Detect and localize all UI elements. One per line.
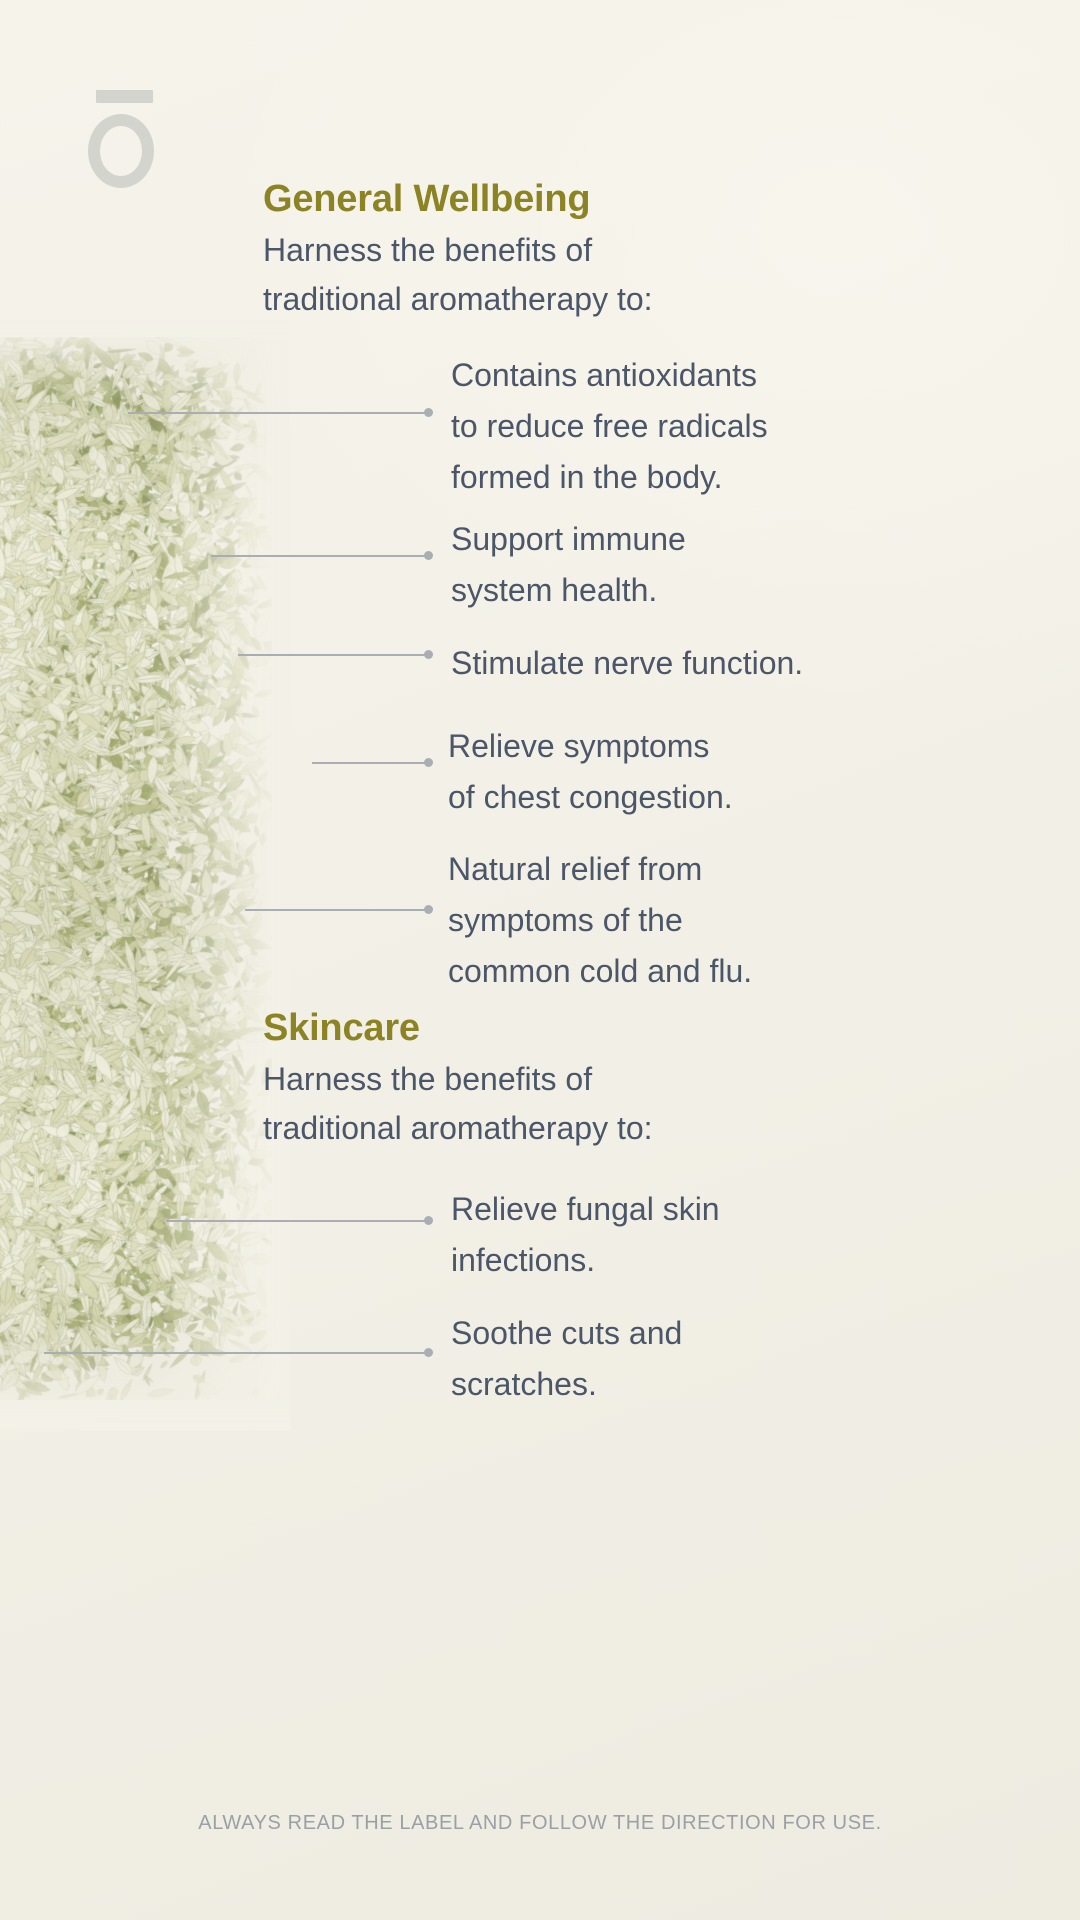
benefit-text-1: Contains antioxidants to reduce free rad… [451, 350, 768, 503]
leader-dot [424, 1348, 433, 1357]
benefit-text-5: Natural relief from symptoms of the comm… [448, 844, 752, 997]
section-title-skincare: Skincare [263, 1007, 420, 1050]
leader-rule [166, 1220, 432, 1222]
leader-rule [312, 762, 432, 764]
leader-dot [424, 1216, 433, 1225]
benefit-text-3: Stimulate nerve function. [451, 638, 803, 689]
leader-line-benefit-4 [312, 761, 432, 764]
section-title-general-wellbeing: General Wellbeing [263, 178, 590, 221]
leader-dot [424, 905, 433, 914]
infographic-page: General Wellbeing Harness the benefits o… [0, 0, 1080, 1920]
leader-line-benefit-5 [245, 908, 432, 911]
section-subtitle-general-wellbeing: Harness the benefits of traditional arom… [263, 226, 653, 324]
leader-rule [128, 412, 432, 414]
leader-line-benefit-7 [44, 1351, 432, 1354]
leader-rule [44, 1352, 432, 1354]
leader-line-benefit-2 [211, 554, 432, 557]
dried-herb-photo [0, 337, 272, 1400]
leader-line-benefit-6 [166, 1219, 432, 1222]
dried-herb-canvas [0, 337, 272, 1400]
brand-logo-icon [88, 78, 208, 188]
logo-macron-bar [96, 90, 153, 103]
logo-o-ring [88, 114, 154, 188]
benefit-text-7: Soothe cuts and scratches. [451, 1308, 682, 1410]
leader-dot [424, 551, 433, 560]
leader-rule [238, 654, 432, 656]
leader-dot [424, 650, 433, 659]
benefit-text-6: Relieve fungal skin infections. [451, 1184, 720, 1286]
label-disclaimer: ALWAYS READ THE LABEL AND FOLLOW THE DIR… [0, 1812, 1080, 1835]
leader-rule [211, 555, 432, 557]
leader-line-benefit-3 [238, 653, 432, 656]
leader-dot [424, 758, 433, 767]
benefit-text-2: Support immune system health. [451, 514, 686, 616]
benefit-text-4: Relieve symptoms of chest congestion. [448, 721, 733, 823]
leader-dot [424, 408, 433, 417]
leader-line-benefit-1 [128, 411, 432, 414]
section-subtitle-skincare: Harness the benefits of traditional arom… [263, 1055, 653, 1153]
leader-rule [245, 909, 432, 911]
